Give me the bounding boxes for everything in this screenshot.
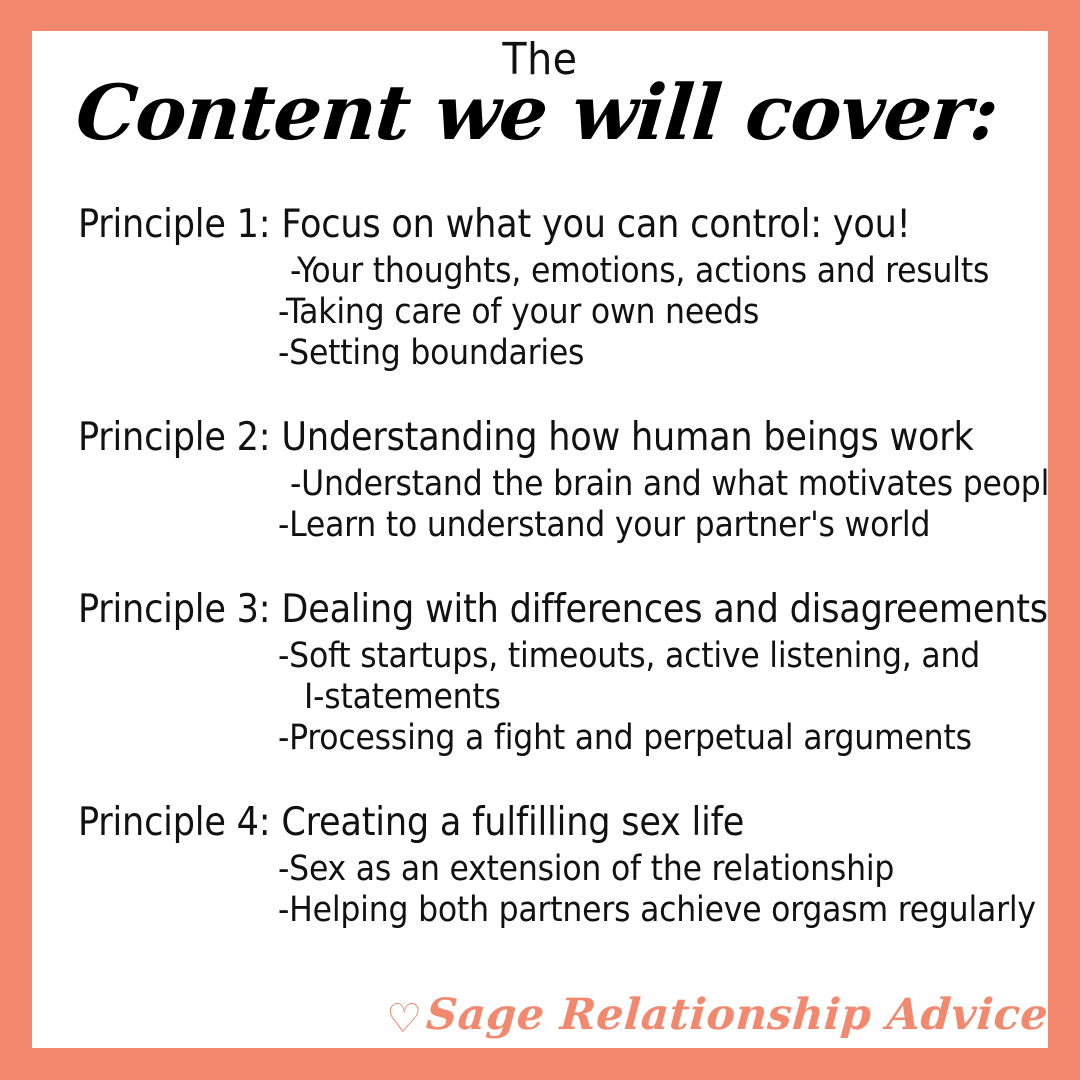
principle-heading: Principle 2: Understanding how human bei… (32, 412, 1048, 464)
page-title: Content we will cover: (32, 67, 1046, 159)
principle-bullet: -Sex as an extension of the relationship (32, 849, 1048, 890)
principle-bullet: -Taking care of your own needs (32, 292, 1048, 333)
principle-bullet: -Understand the brain and what motivates… (32, 464, 1048, 505)
principle-block: Principle 4: Creating a fulfilling sex l… (32, 797, 1048, 931)
footer-branding: ♡Sage Relationship Advice (32, 988, 1048, 1042)
principles-list: Principle 1: Focus on what you can contr… (32, 199, 1048, 931)
principle-block: Principle 1: Focus on what you can contr… (32, 199, 1048, 374)
principle-bullet: -Processing a fight and perpetual argume… (32, 718, 1048, 759)
brand-name: Sage Relationship Advice (424, 990, 1048, 1040)
principle-bullet: -Setting boundaries (32, 333, 1048, 374)
header: The Content we will cover: (32, 31, 1048, 191)
white-content-panel: The Content we will cover: Principle 1: … (32, 31, 1048, 1048)
principle-bullet: -Your thoughts, emotions, actions and re… (32, 251, 1048, 292)
principle-bullet: -Soft startups, timeouts, active listeni… (32, 636, 1048, 677)
heart-icon: ♡ (384, 999, 423, 1039)
principle-heading: Principle 1: Focus on what you can contr… (32, 199, 1048, 251)
principle-block: Principle 2: Understanding how human bei… (32, 412, 1048, 546)
slide-canvas: The Content we will cover: Principle 1: … (0, 0, 1080, 1080)
principle-heading: Principle 4: Creating a fulfilling sex l… (32, 797, 1048, 849)
principle-bullet: -Learn to understand your partner's worl… (32, 505, 1048, 546)
principle-bullet: I-statements (32, 677, 1048, 718)
principle-heading: Principle 3: Dealing with differences an… (32, 584, 1048, 636)
principle-block: Principle 3: Dealing with differences an… (32, 584, 1048, 759)
brand-signature: ♡Sage Relationship Advice (384, 988, 1048, 1042)
principle-bullet: -Helping both partners achieve orgasm re… (32, 890, 1048, 931)
